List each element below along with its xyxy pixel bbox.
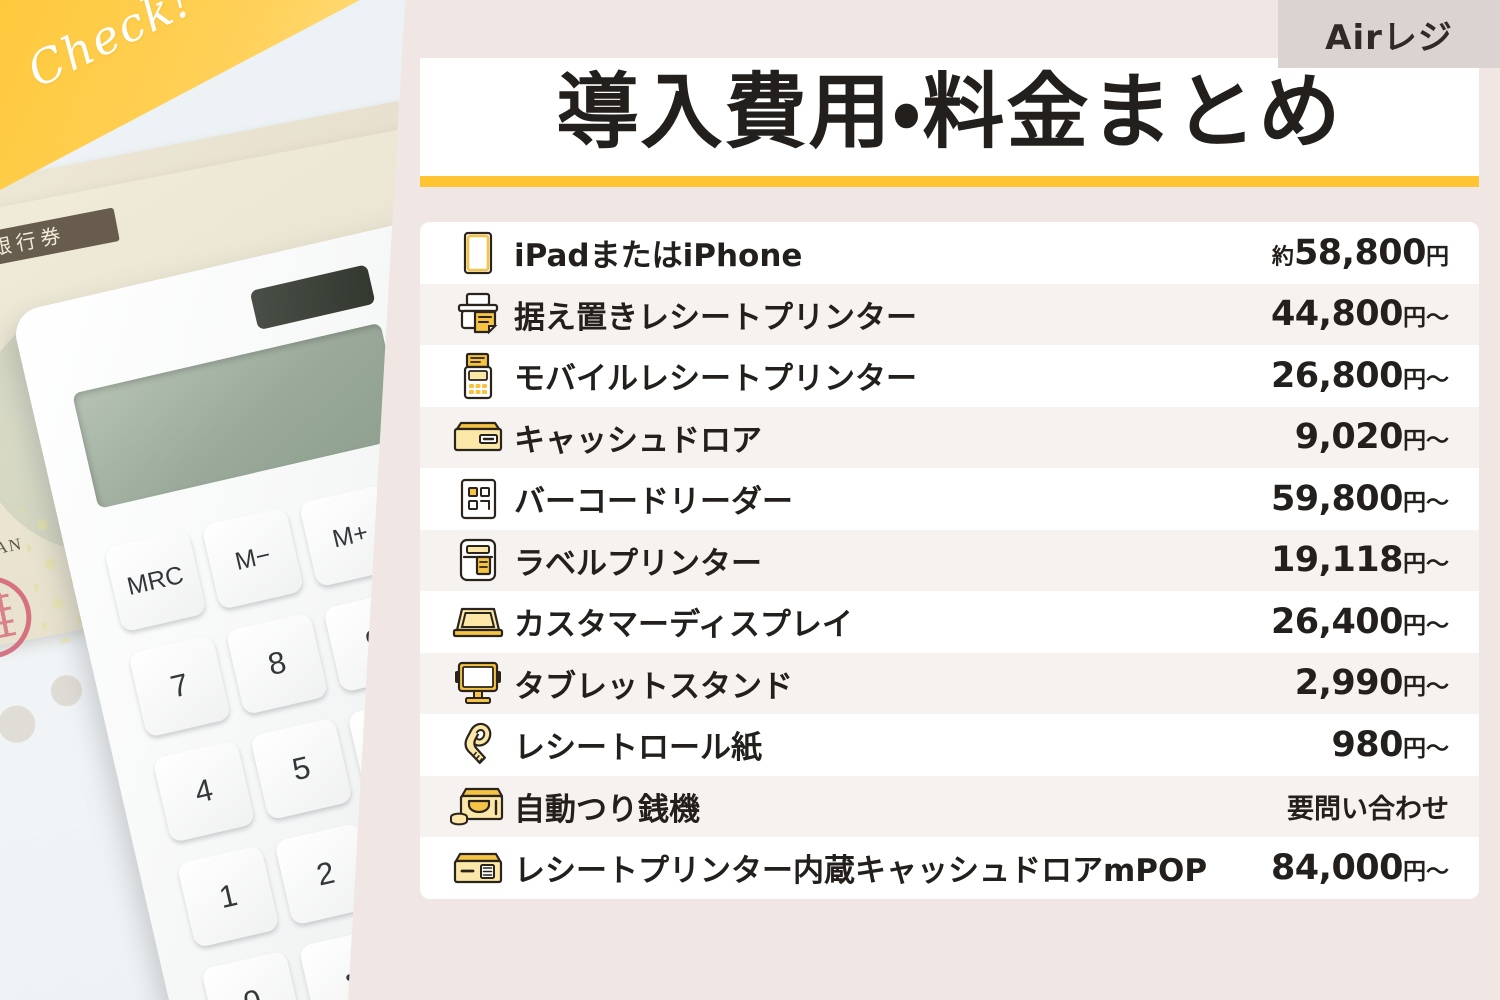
price-suffix: 円〜	[1403, 674, 1449, 700]
calculator-key: M+	[299, 484, 402, 587]
price-amount: 19,118	[1271, 540, 1403, 580]
price-amount: 58,800	[1294, 233, 1426, 273]
price-suffix: 円〜	[1403, 613, 1449, 639]
calculator-key: +/−	[396, 905, 410, 1000]
table-row: 据え置きレシートプリンター44,800円〜	[420, 284, 1479, 346]
price-amount: 9,020	[1295, 417, 1403, 457]
pricing-table: iPadまたはiPhone約58,800円 据え置きレシートプリンター44,80…	[420, 222, 1479, 899]
calculator-key: ・	[298, 928, 401, 1000]
receipt-printer-icon	[442, 291, 514, 337]
price-suffix: 円〜	[1403, 551, 1449, 577]
tablet-icon	[442, 230, 514, 276]
item-price: 980円〜	[1331, 725, 1449, 765]
calculator-solar-panel	[250, 264, 376, 330]
table-row: キャッシュドロア9,020円〜	[420, 407, 1479, 469]
price-amount: 44,800	[1271, 294, 1403, 334]
item-label: 据え置きレシートプリンター	[514, 292, 1271, 337]
customer-display-icon	[442, 604, 514, 640]
banknote-header-text: 日本銀行券	[0, 207, 120, 284]
item-label: タブレットスタンド	[514, 661, 1295, 706]
item-label: iPadまたはiPhone	[514, 230, 1272, 275]
calculator-key: 3	[372, 800, 410, 903]
receipt-roll-icon	[442, 722, 514, 768]
price-amount: 84,000	[1271, 848, 1403, 888]
item-label: レシートプリンター内蔵キャッシュドロアmPOP	[514, 845, 1271, 890]
price-amount: 26,400	[1271, 602, 1403, 642]
calculator-key: 4	[152, 740, 255, 843]
item-price: 84,000円〜	[1271, 848, 1449, 888]
price-suffix: 円〜	[1403, 736, 1449, 762]
calculator-key: 8	[226, 612, 329, 715]
table-row: 自動つり銭機要問い合わせ	[420, 776, 1479, 838]
item-label: バーコードリーダー	[514, 476, 1271, 521]
price-text: 要問い合わせ	[1287, 794, 1449, 825]
item-label: ラベルプリンター	[514, 538, 1271, 583]
item-price: 2,990円〜	[1295, 663, 1449, 703]
calculator-key: 7	[128, 635, 231, 738]
table-row: レシートプリンター内蔵キャッシュドロアmPOP84,000円〜	[420, 837, 1479, 899]
calculator-key: 1	[177, 845, 280, 948]
calculator-key: 9	[323, 590, 410, 693]
table-row: カスタマーディスプレイ26,400円〜	[420, 591, 1479, 653]
price-amount: 26,800	[1271, 356, 1403, 396]
airregi-badge-label: Airレジ	[1325, 10, 1453, 59]
item-label: モバイルレシートプリンター	[514, 353, 1271, 398]
mpop-icon	[442, 851, 514, 885]
price-amount: 980	[1331, 725, 1403, 765]
banknote-bank-name-en: ANK OF JAPAN	[0, 534, 24, 580]
calculator-display	[72, 323, 406, 509]
table-row: iPadまたはiPhone約58,800円	[420, 222, 1479, 284]
label-printer-icon	[442, 537, 514, 583]
item-price: 26,400円〜	[1271, 602, 1449, 642]
item-label: 自動つり銭機	[514, 784, 1287, 829]
barcode-reader-icon	[442, 476, 514, 522]
calculator-key: 6	[347, 695, 410, 798]
table-row: ラベルプリンター19,118円〜	[420, 530, 1479, 592]
price-suffix: 円〜	[1403, 428, 1449, 454]
table-row: レシートロール紙980円〜	[420, 714, 1479, 776]
item-price: 約58,800円	[1272, 233, 1449, 273]
calculator-key: 2	[274, 823, 377, 926]
page-title: 導入費用・料金まとめ	[420, 70, 1479, 156]
mobile-printer-icon	[442, 352, 514, 400]
table-row: バーコードリーダー59,800円〜	[420, 468, 1479, 530]
price-prefix: 約	[1272, 245, 1294, 270]
cash-drawer-icon	[442, 420, 514, 454]
calculator-key: M−	[201, 507, 304, 610]
price-suffix: 円	[1426, 244, 1449, 270]
change-machine-icon	[442, 784, 514, 828]
price-suffix: 円〜	[1403, 305, 1449, 331]
price-amount: 2,990	[1295, 663, 1403, 703]
calculator-key: MRC	[104, 529, 207, 632]
table-row: タブレットスタンド2,990円〜	[420, 653, 1479, 715]
item-price: 9,020円〜	[1295, 417, 1449, 457]
price-suffix: 円〜	[1403, 367, 1449, 393]
item-price: 59,800円〜	[1271, 479, 1449, 519]
item-label: カスタマーディスプレイ	[514, 599, 1271, 644]
table-row: モバイルレシートプリンター26,800円〜	[420, 345, 1479, 407]
calculator-key: 5	[250, 717, 353, 820]
item-price: 要問い合わせ	[1287, 787, 1449, 826]
price-suffix: 円〜	[1403, 490, 1449, 516]
price-suffix: 円〜	[1403, 859, 1449, 885]
title-underline	[420, 176, 1479, 187]
airregi-badge: Airレジ	[1278, 0, 1500, 68]
item-price: 19,118円〜	[1271, 540, 1449, 580]
item-price: 26,800円〜	[1271, 356, 1449, 396]
price-amount: 59,800	[1271, 479, 1403, 519]
item-label: レシートロール紙	[514, 722, 1331, 767]
calculator-key: 0	[201, 950, 304, 1000]
item-label: キャッシュドロア	[514, 415, 1295, 460]
item-price: 44,800円〜	[1271, 294, 1449, 334]
title-card: 導入費用・料金まとめ	[420, 58, 1479, 186]
tablet-stand-icon	[442, 659, 514, 707]
